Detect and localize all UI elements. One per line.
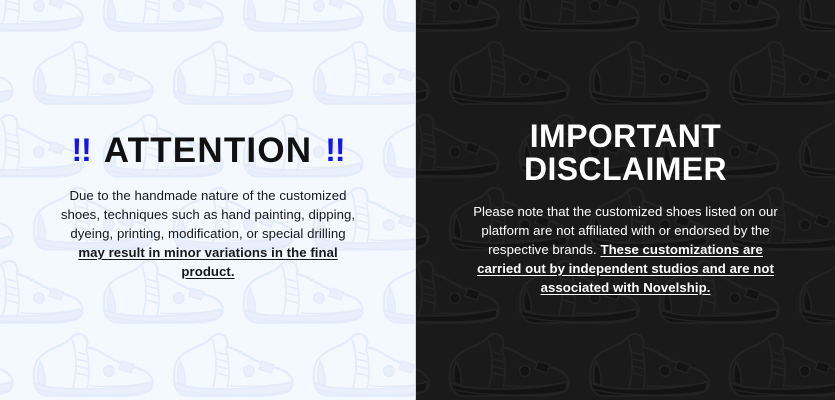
attention-heading: !!ATTENTION!! bbox=[71, 131, 344, 170]
disclaimer-banner: !!ATTENTION!! Due to the handmade nature… bbox=[0, 0, 835, 400]
attention-body-normal: Due to the handmade nature of the custom… bbox=[61, 188, 355, 241]
disclaimer-heading-line2: DISCLAIMER bbox=[524, 153, 727, 186]
attention-content: !!ATTENTION!! Due to the handmade nature… bbox=[0, 0, 416, 281]
disclaimer-panel: IMPORTANTDISCLAIMER Please note that the… bbox=[416, 0, 835, 400]
attention-heading-text: ATTENTION bbox=[104, 131, 312, 170]
disclaimer-heading: IMPORTANTDISCLAIMER bbox=[524, 120, 727, 186]
double-exclamation-icon-right: !! bbox=[325, 132, 344, 168]
disclaimer-content: IMPORTANTDISCLAIMER Please note that the… bbox=[416, 0, 835, 297]
attention-body-emphasis: may result in minor variations in the fi… bbox=[78, 245, 337, 279]
panel-divider bbox=[415, 0, 416, 400]
double-exclamation-icon-left: !! bbox=[71, 132, 90, 168]
attention-panel: !!ATTENTION!! Due to the handmade nature… bbox=[0, 0, 416, 400]
disclaimer-body: Please note that the customized shoes li… bbox=[469, 202, 783, 297]
disclaimer-heading-line1: IMPORTANT bbox=[530, 118, 721, 154]
attention-body: Due to the handmade nature of the custom… bbox=[58, 186, 358, 281]
